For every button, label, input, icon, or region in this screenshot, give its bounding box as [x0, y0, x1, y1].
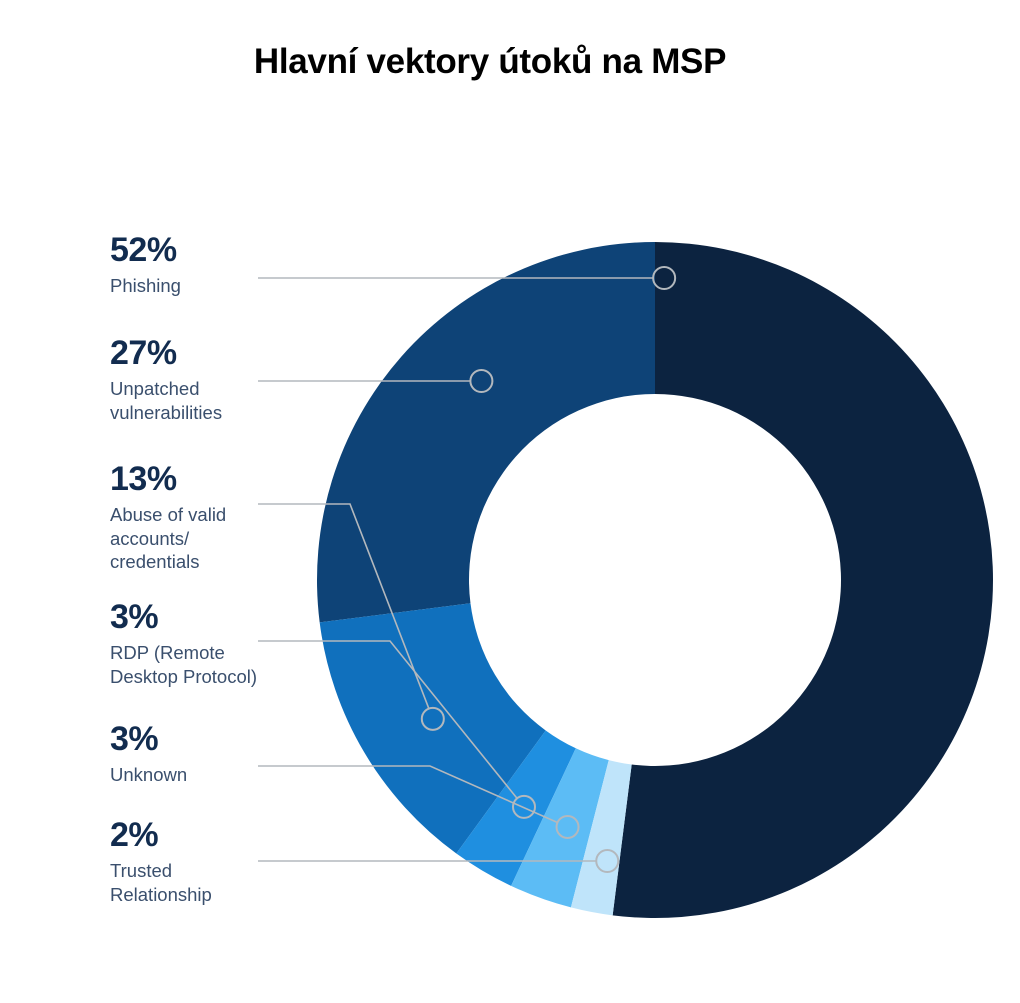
- legend-item-phishing[interactable]: 52% Phishing: [110, 233, 270, 298]
- legend-percent: 3%: [110, 722, 270, 756]
- legend-percent: 3%: [110, 600, 270, 634]
- legend-item-trusted-relationship[interactable]: 2% TrustedRelationship: [110, 818, 270, 906]
- legend-label: Phishing: [110, 274, 270, 298]
- legend-percent: 52%: [110, 233, 270, 267]
- legend-item-unknown[interactable]: 3% Unknown: [110, 722, 270, 787]
- donut-slice[interactable]: [613, 242, 993, 918]
- legend-percent: 13%: [110, 462, 270, 496]
- donut-slice[interactable]: [317, 242, 655, 622]
- legend-label: Unpatchedvulnerabilities: [110, 377, 270, 424]
- legend-percent: 2%: [110, 818, 270, 852]
- legend-label: RDP (RemoteDesktop Protocol): [110, 641, 270, 688]
- legend-item-rdp[interactable]: 3% RDP (RemoteDesktop Protocol): [110, 600, 270, 688]
- legend-label: TrustedRelationship: [110, 859, 270, 906]
- legend-label: Abuse of validaccounts/credentials: [110, 503, 270, 574]
- legend-label: Unknown: [110, 763, 270, 787]
- legend-item-unpatched-vulnerabilities[interactable]: 27% Unpatchedvulnerabilities: [110, 336, 270, 424]
- legend-percent: 27%: [110, 336, 270, 370]
- donut-chart-figure: Hlavní vektory útoků na MSP 52% Phishing…: [0, 0, 1020, 1003]
- legend-item-abuse-of-valid-accounts[interactable]: 13% Abuse of validaccounts/credentials: [110, 462, 270, 574]
- donut-slice-group: [317, 242, 993, 918]
